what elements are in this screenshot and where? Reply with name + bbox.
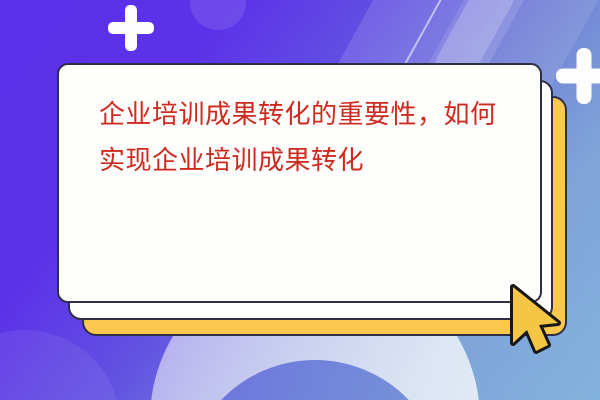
page-title: 企业培训成果转化的重要性，如何实现企业培训成果转化 — [99, 92, 514, 185]
plus-icon — [556, 48, 600, 104]
banner-canvas: 企业培训成果转化的重要性，如何实现企业培训成果转化 — [0, 0, 600, 400]
plus-icon — [108, 5, 154, 51]
card-layer-front: 企业培训成果转化的重要性，如何实现企业培训成果转化 — [57, 63, 542, 303]
circle-blob-decoration — [190, 0, 246, 30]
concentric-ring-middle — [185, 360, 445, 400]
corner-blob-decoration — [0, 330, 120, 400]
mouse-pointer-arrow-icon — [505, 283, 567, 355]
